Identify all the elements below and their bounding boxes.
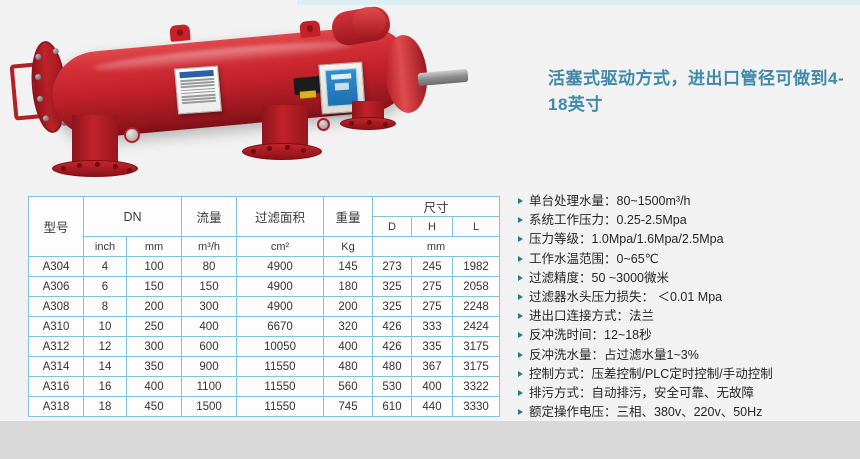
table-row: A3101025040066703204263332424 [29, 317, 500, 337]
spec-list-item-label: 进出口连接方式：法兰 [529, 308, 654, 324]
spec-list-item-label: 反冲洗水量：占过滤水量1~3% [529, 347, 699, 363]
specification-table: 型号 DN 流量 过滤面积 重量 尺寸 D H L inch mm m³/h c… [28, 196, 500, 417]
pressure-gauge [124, 127, 140, 143]
spec-list-item: 过滤精度：50 ~3000微米 [518, 270, 854, 286]
table-cell: 3175 [453, 357, 500, 377]
table-cell: 3330 [453, 397, 500, 417]
table-cell: 16 [84, 377, 127, 397]
table-cell: 480 [373, 357, 412, 377]
table-cell: 2248 [453, 297, 500, 317]
spec-list-item: 压力等级：1.0Mpa/1.6Mpa/2.5Mpa [518, 231, 854, 247]
th-dim-d: D [373, 217, 412, 237]
spec-list-item-label: 单台处理水量：80~1500m³/h [529, 193, 691, 209]
table-cell: A310 [29, 317, 84, 337]
table-cell: 275 [412, 297, 453, 317]
table-cell: 745 [324, 397, 373, 417]
table-cell: 4900 [237, 297, 324, 317]
spec-list-item-label: 过滤精度：50 ~3000微米 [529, 270, 669, 286]
table-cell: 18 [84, 397, 127, 417]
table-row: A31414350900115504804803673175 [29, 357, 500, 377]
table-row: A306615015049001803252752058 [29, 277, 500, 297]
triangle-bullet-icon [518, 409, 523, 415]
table-cell: A304 [29, 257, 84, 277]
table-cell: 400 [182, 317, 237, 337]
table-cell: A312 [29, 337, 84, 357]
table-body: A30441008049001452732451982A306615015049… [29, 257, 500, 417]
table-cell: 245 [412, 257, 453, 277]
table-cell: 8 [84, 297, 127, 317]
spec-list-item: 进出口连接方式：法兰 [518, 308, 854, 324]
triangle-bullet-icon [518, 236, 523, 242]
table-head: 型号 DN 流量 过滤面积 重量 尺寸 D H L inch mm m³/h c… [29, 197, 500, 257]
spec-list-item: 单台处理水量：80~1500m³/h [518, 193, 854, 209]
nameplate-label [174, 66, 222, 115]
table-unit-row: inch mm m³/h cm² Kg mm [29, 237, 500, 257]
table-cell: 325 [373, 277, 412, 297]
triangle-bullet-icon [518, 371, 523, 377]
triangle-bullet-icon [518, 313, 523, 319]
table-cell: 426 [373, 337, 412, 357]
product-image [0, 5, 500, 190]
table-cell: 3175 [453, 337, 500, 357]
th-dimensions: 尺寸 [373, 197, 500, 217]
spec-list-item: 系统工作压力：0.25-2.5Mpa [518, 212, 854, 228]
flange [242, 143, 322, 160]
table-cell: 367 [412, 357, 453, 377]
table-cell: 320 [324, 317, 373, 337]
spec-list-item: 排污方式：自动排污，安全可靠、无故障 [518, 385, 854, 401]
table-cell: 400 [127, 377, 182, 397]
pressure-gauge [317, 118, 330, 131]
top-valve-head [352, 7, 386, 37]
flange [52, 160, 138, 177]
triangle-bullet-icon [518, 275, 523, 281]
spec-list-item-label: 工作水温范围：0~65℃ [529, 251, 659, 267]
spec-list-item-label: 排污方式：自动排污，安全可靠、无故障 [529, 385, 754, 401]
vessel-highlight [93, 37, 353, 76]
spec-list-item-label: 过滤器水头压力损失： ＜0.01 Mpa [529, 289, 722, 305]
table-row: A318184501500115507456104403330 [29, 397, 500, 417]
flange [340, 117, 396, 130]
table-cell: 3322 [453, 377, 500, 397]
table-cell: 11550 [237, 377, 324, 397]
table-cell: A308 [29, 297, 84, 317]
table-cell: 325 [373, 297, 412, 317]
th-dim-h: H [412, 217, 453, 237]
lifting-lug [299, 20, 320, 38]
table-header-row-1: 型号 DN 流量 过滤面积 重量 尺寸 [29, 197, 500, 217]
spec-list-item: 反冲洗时间：12~18秒 [518, 327, 854, 343]
unit-inch: inch [84, 237, 127, 257]
spec-list-item-label: 控制方式：压差控制/PLC定时控制/手动控制 [529, 366, 773, 382]
table-cell: A316 [29, 377, 84, 397]
table-cell: 150 [127, 277, 182, 297]
table-cell: 610 [373, 397, 412, 417]
th-flow: 流量 [182, 197, 237, 237]
triangle-bullet-icon [518, 294, 523, 300]
unit-mm: mm [127, 237, 182, 257]
table-cell: 333 [412, 317, 453, 337]
th-model: 型号 [29, 197, 84, 257]
table-cell: 1982 [453, 257, 500, 277]
support-leg [72, 115, 118, 165]
spec-list-item: 额定操作电压：三相、380v、220v、50Hz [518, 404, 854, 420]
table-cell: 4900 [237, 257, 324, 277]
unit-dimensions: mm [373, 237, 500, 257]
triangle-bullet-icon [518, 256, 523, 262]
table-cell: 335 [412, 337, 453, 357]
table-cell: 530 [373, 377, 412, 397]
triangle-bullet-icon [518, 390, 523, 396]
table-cell: 150 [182, 277, 237, 297]
table-cell: 273 [373, 257, 412, 277]
unit-area: cm² [237, 237, 324, 257]
table-cell: 12 [84, 337, 127, 357]
table-cell: 4900 [237, 277, 324, 297]
spec-list-item: 过滤器水头压力损失： ＜0.01 Mpa [518, 289, 854, 305]
table-cell: 275 [412, 277, 453, 297]
table-cell: 200 [127, 297, 182, 317]
table-cell: 250 [127, 317, 182, 337]
table-cell: 400 [324, 337, 373, 357]
triangle-bullet-icon [518, 332, 523, 338]
table-cell: 180 [324, 277, 373, 297]
spec-list-item-label: 反冲洗时间：12~18秒 [529, 327, 652, 343]
th-filter-area: 过滤面积 [237, 197, 324, 237]
table-cell: 10 [84, 317, 127, 337]
table-cell: A318 [29, 397, 84, 417]
unit-flow: m³/h [182, 237, 237, 257]
page-headline: 活塞式驱动方式，进出口管径可做到4-18英寸 [548, 66, 848, 118]
table-cell: 14 [84, 357, 127, 377]
table-cell: 900 [182, 357, 237, 377]
triangle-bullet-icon [518, 217, 523, 223]
table-cell: 100 [127, 257, 182, 277]
table-cell: 450 [127, 397, 182, 417]
lifting-lug [169, 24, 190, 42]
th-dim-l: L [453, 217, 500, 237]
table-row: A30441008049001452732451982 [29, 257, 500, 277]
spec-list-item-label: 系统工作压力：0.25-2.5Mpa [529, 212, 687, 228]
table-cell: 350 [127, 357, 182, 377]
table-cell: 2424 [453, 317, 500, 337]
bottom-band [0, 421, 860, 459]
spec-list-item: 控制方式：压差控制/PLC定时控制/手动控制 [518, 366, 854, 382]
spec-list-item: 反冲洗水量：占过滤水量1~3% [518, 347, 854, 363]
table-cell: 600 [182, 337, 237, 357]
terminal-block [300, 90, 317, 98]
table-cell: 300 [127, 337, 182, 357]
table-cell: 2058 [453, 277, 500, 297]
table-cell: 1500 [182, 397, 237, 417]
table-row: A308820030049002003252752248 [29, 297, 500, 317]
th-weight: 重量 [324, 197, 373, 237]
table-row: A31212300600100504004263353175 [29, 337, 500, 357]
spec-list-item: 工作水温范围：0~65℃ [518, 251, 854, 267]
table-cell: 1100 [182, 377, 237, 397]
table-cell: 10050 [237, 337, 324, 357]
spec-list-item-label: 压力等级：1.0Mpa/1.6Mpa/2.5Mpa [529, 231, 724, 247]
unit-weight: Kg [324, 237, 373, 257]
triangle-bullet-icon [518, 198, 523, 204]
table-row: A316164001100115505605304003322 [29, 377, 500, 397]
specification-list: 单台处理水量：80~1500m³/h系统工作压力：0.25-2.5Mpa压力等级… [518, 193, 854, 423]
table-cell: 440 [412, 397, 453, 417]
table-cell: 300 [182, 297, 237, 317]
th-dn: DN [84, 197, 182, 237]
table-cell: 6 [84, 277, 127, 297]
table-cell: 426 [373, 317, 412, 337]
table-cell: 200 [324, 297, 373, 317]
table-cell: 6670 [237, 317, 324, 337]
table-cell: 4 [84, 257, 127, 277]
page-root: 活塞式驱动方式，进出口管径可做到4-18英寸 型号 DN 流量 过滤面积 重量 … [0, 0, 860, 459]
table-cell: 480 [324, 357, 373, 377]
spec-list-item-label: 额定操作电压：三相、380v、220v、50Hz [529, 404, 762, 420]
table-cell: A306 [29, 277, 84, 297]
table-cell: 145 [324, 257, 373, 277]
table-cell: 400 [412, 377, 453, 397]
table-cell: 11550 [237, 397, 324, 417]
table-cell: 11550 [237, 357, 324, 377]
triangle-bullet-icon [518, 352, 523, 358]
table-cell: 80 [182, 257, 237, 277]
table-cell: A314 [29, 357, 84, 377]
table-cell: 560 [324, 377, 373, 397]
